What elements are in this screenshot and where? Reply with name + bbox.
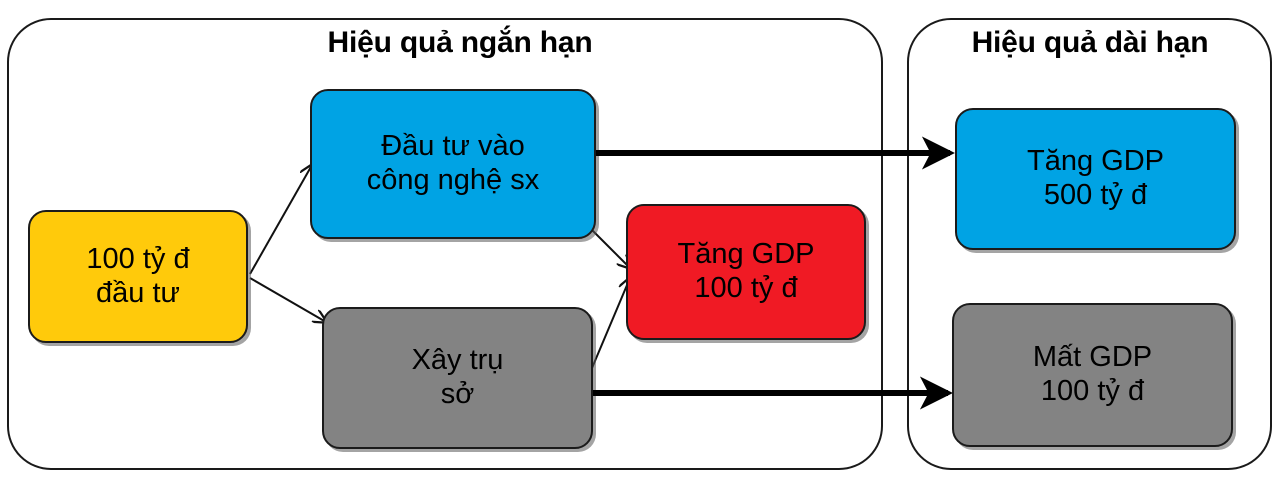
node-invest-technology-line2: công nghệ sx	[367, 164, 540, 198]
panel-short-term-title: Hiệu quả ngắn hạn	[290, 28, 630, 58]
node-build-headquarters-line1: Xây trụ	[412, 344, 504, 378]
node-gdp-increase-long-line1: Tăng GDP	[1027, 145, 1164, 179]
node-investment-input-line2: đầu tư	[96, 277, 180, 311]
node-gdp-increase-long[interactable]: Tăng GDP 500 tỷ đ	[955, 108, 1236, 250]
node-gdp-increase-long-line2: 500 tỷ đ	[1044, 179, 1147, 213]
node-gdp-increase-short-line2: 100 tỷ đ	[694, 272, 797, 306]
node-build-headquarters-line2: sở	[441, 378, 475, 412]
node-gdp-increase-short[interactable]: Tăng GDP 100 tỷ đ	[626, 204, 866, 340]
node-gdp-increase-short-line1: Tăng GDP	[678, 238, 815, 272]
node-invest-technology-line1: Đầu tư vào	[381, 130, 525, 164]
node-gdp-loss-long[interactable]: Mất GDP 100 tỷ đ	[952, 303, 1233, 447]
node-invest-technology[interactable]: Đầu tư vào công nghệ sx	[310, 89, 596, 239]
node-gdp-loss-long-line1: Mất GDP	[1033, 341, 1152, 375]
node-gdp-loss-long-line2: 100 tỷ đ	[1041, 375, 1144, 409]
diagram-canvas: Hiệu quả ngắn hạn Hiệu quả dài hạn 100 t…	[0, 0, 1280, 481]
node-build-headquarters[interactable]: Xây trụ sở	[322, 307, 593, 449]
node-investment-input-line1: 100 tỷ đ	[86, 243, 189, 277]
panel-long-term-title: Hiệu quả dài hạn	[920, 28, 1260, 58]
node-investment-input[interactable]: 100 tỷ đ đầu tư	[28, 210, 248, 343]
